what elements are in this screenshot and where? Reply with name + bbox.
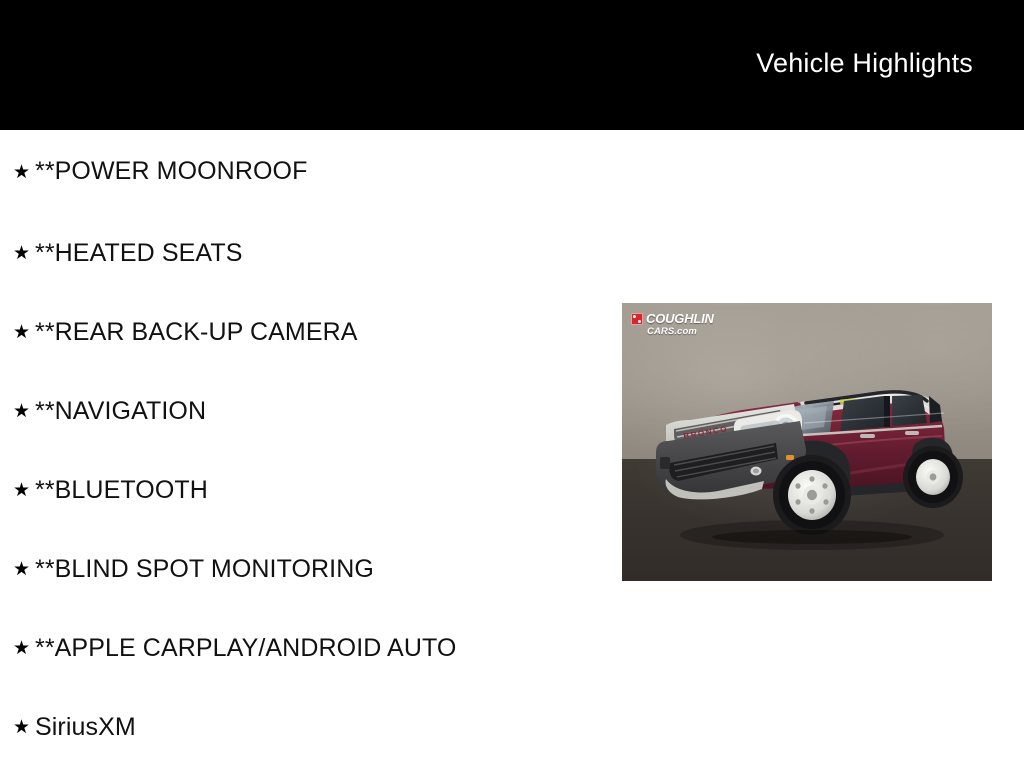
list-item-label: SiriusXM [35,714,612,742]
coughlin-logo-icon [631,313,643,325]
list-item-label: **BLIND SPOT MONITORING [35,556,612,584]
star-icon: ★ [13,639,35,658]
watermark-brand-text: COUGHLIN [646,312,714,325]
list-item: ★ **APPLE CARPLAY/ANDROID AUTO [0,609,612,688]
list-item-label: **HEATED SEATS [35,240,612,268]
vehicle-highlights-list: ★ **POWER MOONROOF ★ **HEATED SEATS ★ **… [0,130,612,767]
watermark-sub-text: CARS.com [647,327,697,337]
list-item-label: **POWER MOONROOF [35,158,612,186]
list-item: ★ **NAVIGATION [0,372,612,451]
list-item-label: **NAVIGATION [35,398,612,426]
list-item: ★ **BLIND SPOT MONITORING [0,530,612,609]
list-item: ★ **HEATED SEATS [0,214,612,293]
dealer-watermark: COUGHLIN CARS.com [631,312,714,337]
list-item: ★ **POWER MOONROOF [0,130,612,214]
list-item-label: **REAR BACK-UP CAMERA [35,319,612,347]
star-icon: ★ [13,718,35,737]
list-item-label: **BLUETOOTH [35,477,612,505]
list-item: ★ **BLUETOOTH [0,451,612,530]
star-icon: ★ [13,323,35,342]
list-item: ★ **REAR BACK-UP CAMERA [0,293,612,372]
list-item: ★ SiriusXM [0,688,612,767]
star-icon: ★ [13,244,35,263]
watermark-top-row: COUGHLIN [631,312,714,325]
list-item-label: **APPLE CARPLAY/ANDROID AUTO [35,635,612,663]
header-bar: Vehicle Highlights [0,0,1024,130]
star-icon: ★ [13,481,35,500]
vehicle-illustration: BRONCO [622,303,992,581]
star-icon: ★ [13,402,35,421]
star-icon: ★ [13,560,35,579]
vehicle-photo: COUGHLIN CARS.com [622,303,992,581]
star-icon: ★ [13,163,35,182]
page-title: Vehicle Highlights [756,48,973,79]
